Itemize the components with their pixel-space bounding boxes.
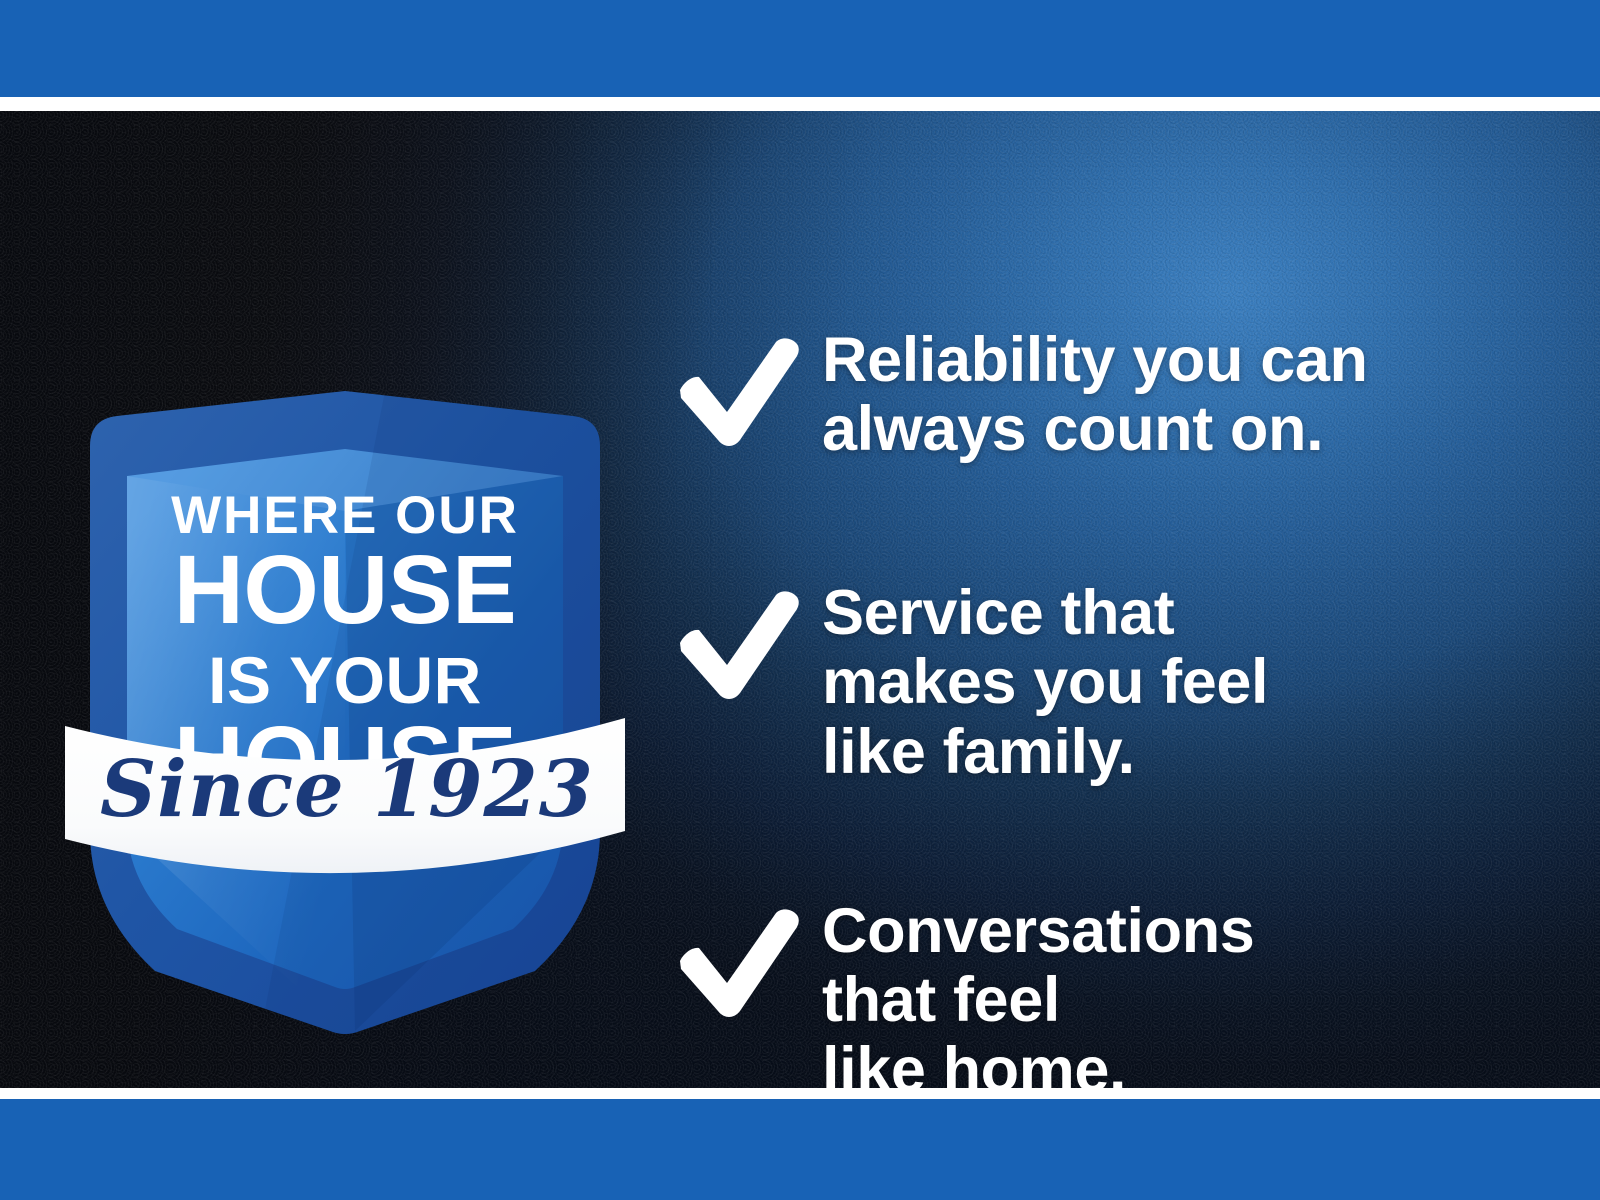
check-icon: [672, 332, 804, 450]
check-icon: [672, 585, 804, 703]
benefit-item-2: Service that makes you feel like family.: [672, 577, 1268, 787]
benefit-item-1: Reliability you can always count on.: [672, 324, 1368, 465]
benefit-text-2: Service that makes you feel like family.: [822, 577, 1268, 787]
main-panel: WHERE OUR HOUSE IS YOUR HOUSE Since 1923…: [0, 111, 1600, 1088]
bottom-brand-bar: [0, 1099, 1600, 1200]
promo-poster: WHERE OUR HOUSE IS YOUR HOUSE Since 1923…: [0, 0, 1600, 1200]
badge-banner-text: Since 1923: [100, 744, 594, 835]
benefits-list: Reliability you can always count on. Ser…: [672, 222, 1552, 1088]
benefit-text-1: Reliability you can always count on.: [822, 324, 1368, 465]
check-icon: [672, 903, 804, 1021]
top-brand-bar: [0, 0, 1600, 97]
benefit-text-3: Conversations that feel like home.: [822, 895, 1254, 1088]
benefit-item-3: Conversations that feel like home.: [672, 895, 1254, 1088]
badge-line-house-1: HOUSE: [174, 535, 516, 644]
badge-logo: WHERE OUR HOUSE IS YOUR HOUSE Since 1923: [55, 271, 635, 1061]
